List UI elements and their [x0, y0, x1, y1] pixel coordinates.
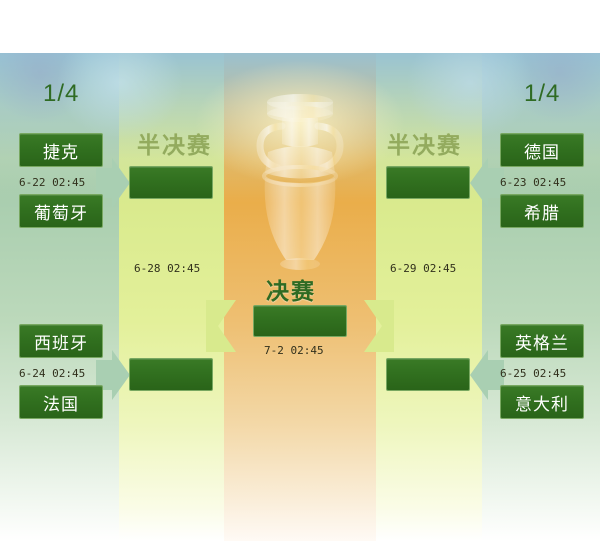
team-box-italy[interactable]: 意大利 — [500, 385, 584, 419]
match-date-qf2: 6-24 02:45 — [19, 367, 85, 380]
slot-box-semifinal-left-bottom[interactable] — [129, 358, 213, 391]
team-name: 法国 — [20, 386, 102, 418]
team-name: 希腊 — [501, 195, 583, 227]
team-box-portugal[interactable]: 葡萄牙 — [19, 194, 103, 228]
slot-winner — [387, 167, 469, 198]
team-name: 捷克 — [20, 134, 102, 166]
match-date-semifinal-right: 6-29 02:45 — [390, 262, 456, 275]
round-label-semifinal-left: 半决赛 — [137, 126, 212, 160]
team-box-england[interactable]: 英格兰 — [500, 324, 584, 358]
bracket-diagram: 1/4 1/4 半决赛 半决赛 决赛 捷克 6-22 02:45 葡萄牙 西班牙… — [0, 0, 600, 541]
arrow-left-icon — [364, 300, 394, 352]
slot-box-semifinal-left-top[interactable] — [129, 166, 213, 199]
match-date-qf1: 6-22 02:45 — [19, 176, 85, 189]
arrow-right-icon — [206, 300, 236, 352]
match-date-qf3: 6-23 02:45 — [500, 176, 566, 189]
round-label-quarterfinal-left: 1/4 — [43, 80, 79, 108]
match-date-final: 7-2 02:45 — [264, 344, 324, 357]
match-date-qf4: 6-25 02:45 — [500, 367, 566, 380]
team-box-greece[interactable]: 希腊 — [500, 194, 584, 228]
arrow-left-icon — [470, 158, 504, 208]
team-box-czech[interactable]: 捷克 — [19, 133, 103, 167]
team-name: 意大利 — [501, 386, 583, 418]
team-name: 英格兰 — [501, 325, 583, 357]
arrow-left-icon — [470, 350, 504, 400]
column-quarterfinal-right — [482, 53, 600, 541]
round-label-final: 决赛 — [266, 272, 316, 306]
slot-box-final-winner[interactable] — [253, 305, 347, 337]
column-quarterfinal-left — [0, 53, 119, 541]
slot-winner — [254, 306, 346, 336]
round-label-semifinal-right: 半决赛 — [387, 126, 462, 160]
round-label-quarterfinal-right: 1/4 — [524, 80, 560, 108]
slot-winner — [130, 359, 212, 390]
team-box-france[interactable]: 法国 — [19, 385, 103, 419]
team-box-spain[interactable]: 西班牙 — [19, 324, 103, 358]
match-date-semifinal-left: 6-28 02:45 — [134, 262, 200, 275]
slot-box-semifinal-right-top[interactable] — [386, 166, 470, 199]
team-name: 德国 — [501, 134, 583, 166]
team-name: 西班牙 — [20, 325, 102, 357]
slot-box-semifinal-right-bottom[interactable] — [386, 358, 470, 391]
team-name: 葡萄牙 — [20, 195, 102, 227]
team-box-germany[interactable]: 德国 — [500, 133, 584, 167]
slot-winner — [387, 359, 469, 390]
slot-winner — [130, 167, 212, 198]
